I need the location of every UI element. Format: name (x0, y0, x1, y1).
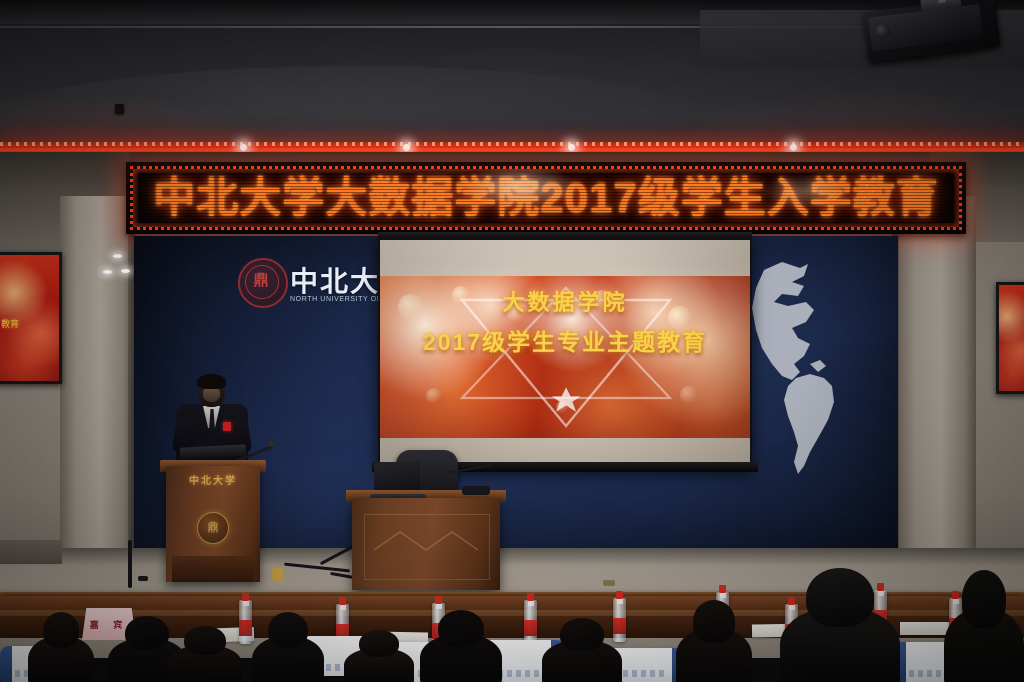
bottle-cap (242, 593, 249, 601)
audience-person-head (806, 568, 873, 627)
water-bottle (613, 598, 626, 642)
bottle-cap (527, 593, 534, 601)
audience-person-head (962, 570, 1007, 628)
water-bottle (239, 600, 252, 644)
audience-person-head (43, 612, 80, 648)
audience-person-head (693, 600, 736, 643)
bottle-label (613, 618, 626, 634)
audience-person-head (125, 616, 169, 650)
bottle-cap (788, 597, 795, 605)
bottle-cap (616, 591, 623, 599)
bottle-cap (877, 583, 884, 591)
bottle-label (524, 620, 537, 636)
seat-side (0, 646, 12, 682)
bottle-cap (952, 591, 959, 599)
audience-person-head (438, 610, 484, 647)
audience-person-head (560, 618, 605, 651)
water-bottle (524, 600, 537, 644)
seat-print (614, 670, 668, 677)
bottle-cap (435, 596, 442, 604)
audience-person-head (359, 630, 398, 657)
auditorium-scene: 教育 中北大学大数据学院2017级学生入学教育 鼎 中北大学 NORTH UNI… (0, 0, 1024, 682)
bottle-cap (339, 597, 346, 605)
bottle-label (239, 620, 252, 636)
audience-person-head (184, 626, 225, 655)
audience-person-head (268, 612, 308, 648)
bottle-cap (719, 585, 726, 593)
audience-layer (0, 0, 1024, 682)
